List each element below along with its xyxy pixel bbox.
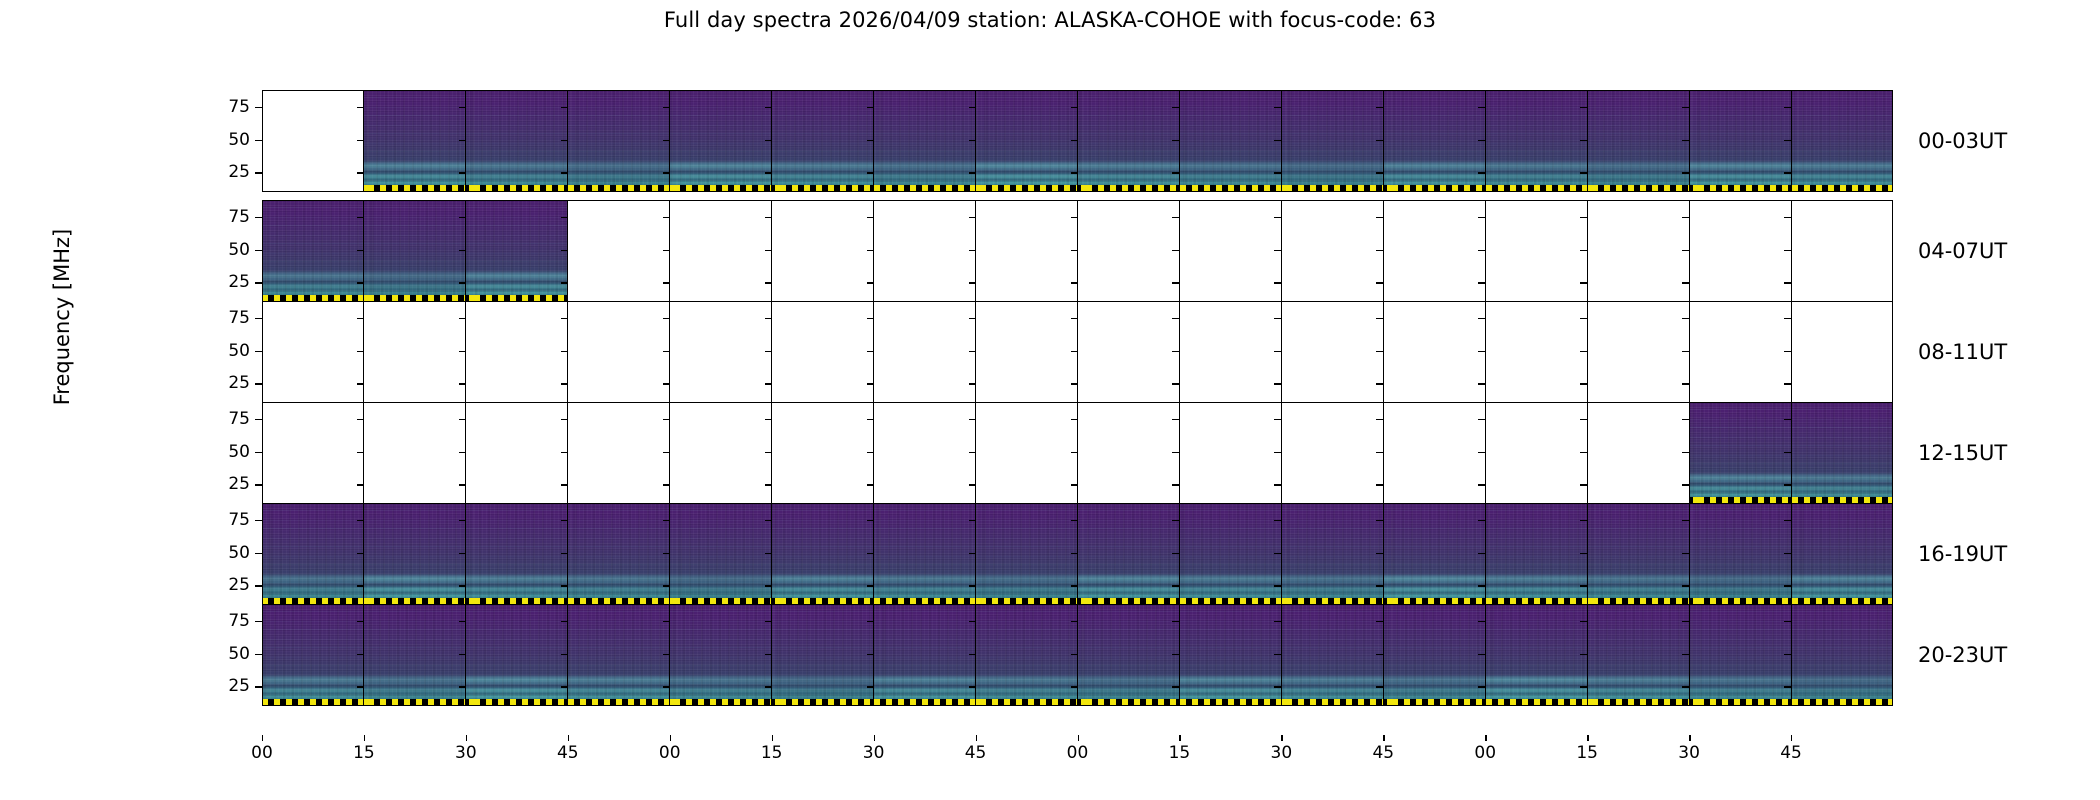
y-axis-tick — [1682, 686, 1689, 687]
y-axis-tick — [1274, 553, 1281, 554]
y-axis-tick — [969, 452, 976, 453]
y-axis-tick — [1580, 654, 1587, 655]
spectrogram-cell — [1791, 503, 1893, 605]
spectrogram-image — [262, 200, 363, 302]
spectrogram-cell — [1179, 503, 1281, 605]
y-axis-tick-label: 25 — [204, 474, 250, 494]
empty-cell — [771, 402, 873, 504]
y-axis-tick — [1478, 452, 1485, 453]
status-strip — [364, 185, 465, 192]
y-axis-tick — [1784, 107, 1791, 108]
noise-speckle — [1384, 503, 1485, 605]
empty-cell — [1281, 200, 1383, 302]
y-axis-tick — [561, 250, 568, 251]
noise-speckle — [976, 503, 1077, 605]
spectrogram-image — [874, 503, 975, 605]
y-axis-tick — [1274, 140, 1281, 141]
y-axis-tick — [1376, 383, 1383, 384]
y-axis-tick — [1274, 621, 1281, 622]
y-axis-tick — [1071, 452, 1078, 453]
status-strip — [1282, 598, 1383, 605]
empty-cell — [1383, 200, 1485, 302]
y-axis-tick — [1784, 172, 1791, 173]
y-axis-tick — [1071, 107, 1078, 108]
y-axis-tick — [357, 250, 364, 251]
y-axis-tick — [969, 351, 976, 352]
y-axis-tick — [255, 217, 262, 218]
y-axis-tick — [1784, 686, 1791, 687]
empty-cell — [873, 301, 975, 403]
status-strip — [976, 699, 1077, 706]
y-axis-tick — [255, 383, 262, 384]
spectrogram-cell — [1485, 604, 1587, 706]
y-axis-tick — [255, 452, 262, 453]
status-strip — [1486, 699, 1587, 706]
status-strip — [1792, 497, 1893, 504]
y-axis-tick — [1580, 140, 1587, 141]
y-axis-tick — [255, 250, 262, 251]
spectrogram-cell — [1689, 90, 1791, 192]
x-axis-tick-label: 30 — [1271, 743, 1293, 763]
y-axis-tick — [969, 140, 976, 141]
y-axis-tick — [561, 351, 568, 352]
y-axis-tick — [459, 484, 466, 485]
y-axis-tick — [1580, 282, 1587, 283]
spectrogram-cell — [975, 604, 1077, 706]
spectrogram-image — [568, 90, 669, 192]
noise-speckle — [1690, 402, 1791, 504]
empty-cell — [975, 402, 1077, 504]
spectrogram-cell — [1587, 604, 1689, 706]
empty-cell — [1383, 301, 1485, 403]
y-axis-tick — [1682, 621, 1689, 622]
spectrogram-image — [772, 604, 873, 706]
y-axis-tick — [969, 172, 976, 173]
noise-speckle — [1282, 503, 1383, 605]
y-axis-tick — [357, 351, 364, 352]
status-strip — [1384, 699, 1485, 706]
y-axis-tick — [1172, 282, 1179, 283]
y-axis-tick — [1682, 250, 1689, 251]
status-strip — [466, 598, 567, 605]
row-cells — [262, 301, 1893, 403]
y-axis-tick — [255, 282, 262, 283]
spectrogram-image — [1690, 604, 1791, 706]
y-axis-tick — [1071, 250, 1078, 251]
y-axis-tick — [1376, 217, 1383, 218]
noise-speckle — [1486, 503, 1587, 605]
y-axis-tick — [1682, 520, 1689, 521]
y-axis-tick — [969, 585, 976, 586]
spectrogram-image — [568, 503, 669, 605]
spectrogram-cell — [771, 604, 873, 706]
y-axis-tick — [1274, 520, 1281, 521]
y-axis-tick — [765, 140, 772, 141]
noise-speckle — [364, 604, 465, 706]
empty-cell — [669, 200, 771, 302]
y-axis-tick — [1172, 419, 1179, 420]
empty-cell — [771, 200, 873, 302]
y-axis-tick — [663, 484, 670, 485]
y-axis-tick — [1478, 654, 1485, 655]
spectrogram-image — [1690, 90, 1791, 192]
y-axis-tick — [867, 217, 874, 218]
noise-speckle — [466, 90, 567, 192]
spectrogram-image — [1792, 503, 1893, 605]
y-axis-tick — [1580, 107, 1587, 108]
x-axis-tick-label: 15 — [1169, 743, 1191, 763]
y-axis-tick — [969, 621, 976, 622]
empty-cell — [465, 402, 567, 504]
spectrogram-image — [1282, 604, 1383, 706]
y-axis-tick — [969, 686, 976, 687]
y-axis-tick — [1274, 351, 1281, 352]
y-axis-tick — [867, 585, 874, 586]
y-axis-tick — [765, 107, 772, 108]
y-axis-tick — [1478, 484, 1485, 485]
noise-speckle — [670, 503, 771, 605]
status-strip — [976, 185, 1077, 192]
y-axis-tick — [1274, 654, 1281, 655]
y-axis-tick — [1172, 484, 1179, 485]
y-axis-tick — [1580, 419, 1587, 420]
y-axis-tick — [765, 217, 772, 218]
y-axis-tick — [867, 484, 874, 485]
y-axis-tick — [1376, 351, 1383, 352]
x-axis-tick-label: 30 — [455, 743, 477, 763]
spectrogram-image — [1690, 402, 1791, 504]
spectrogram-cell — [1791, 604, 1893, 706]
y-axis-tick — [1376, 520, 1383, 521]
status-strip — [874, 185, 975, 192]
y-axis-tick — [357, 484, 364, 485]
y-axis-tick-label: 75 — [204, 97, 250, 117]
y-axis-tick-label: 50 — [204, 341, 250, 361]
noise-speckle — [1180, 604, 1281, 706]
y-axis-tick — [561, 452, 568, 453]
spectrogram-cell — [1077, 503, 1179, 605]
y-axis-tick — [867, 520, 874, 521]
noise-speckle — [1588, 503, 1689, 605]
y-axis-tick — [1172, 585, 1179, 586]
noise-speckle — [1486, 604, 1587, 706]
spectrogram-cell — [262, 200, 363, 302]
y-axis-tick — [663, 172, 670, 173]
empty-cell — [1689, 301, 1791, 403]
empty-cell — [1179, 301, 1281, 403]
y-axis-tick — [255, 520, 262, 521]
y-axis-tick — [663, 250, 670, 251]
noise-speckle — [1384, 604, 1485, 706]
y-axis-tick — [561, 140, 568, 141]
y-axis-tick — [1274, 419, 1281, 420]
spectrogram-image — [976, 604, 1077, 706]
y-axis-tick — [1172, 621, 1179, 622]
spectrogram-cell — [1791, 402, 1893, 504]
spectrogram-cell — [1587, 503, 1689, 605]
y-axis-tick — [765, 282, 772, 283]
noise-speckle — [772, 90, 873, 192]
x-axis-tick — [364, 735, 365, 741]
status-strip — [262, 699, 363, 706]
y-axis-tick — [867, 452, 874, 453]
spectrogram-image — [1384, 503, 1485, 605]
status-strip — [1180, 185, 1281, 192]
spectrogram-image — [1588, 604, 1689, 706]
y-axis-tick — [969, 383, 976, 384]
y-axis-tick — [1274, 172, 1281, 173]
y-axis-tick — [357, 553, 364, 554]
y-axis-tick — [1682, 553, 1689, 554]
spectrogram-image — [772, 90, 873, 192]
y-axis-tick — [663, 217, 670, 218]
y-axis-tick — [1376, 585, 1383, 586]
x-axis-tick-label: 00 — [1067, 743, 1089, 763]
y-axis-tick — [561, 282, 568, 283]
y-axis-tick — [765, 520, 772, 521]
noise-speckle — [1792, 402, 1893, 504]
empty-cell — [262, 90, 363, 192]
y-axis-tick — [969, 250, 976, 251]
y-axis-tick — [561, 621, 568, 622]
y-axis-tick — [1478, 250, 1485, 251]
y-axis-tick — [1784, 520, 1791, 521]
y-axis-tick — [1376, 172, 1383, 173]
spectrogram-cell — [262, 604, 363, 706]
row-time-label: 16-19UT — [1918, 542, 2007, 566]
y-axis-tick — [1376, 686, 1383, 687]
x-axis-tick — [874, 735, 875, 741]
spectrogram-figure: Full day spectra 2026/04/09 station: ALA… — [0, 0, 2100, 800]
empty-cell — [669, 402, 771, 504]
y-axis-tick — [765, 484, 772, 485]
y-axis-tick-label: 50 — [204, 442, 250, 462]
y-axis-tick — [357, 419, 364, 420]
y-axis-tick — [1580, 217, 1587, 218]
y-axis-tick — [1784, 250, 1791, 251]
spectrogram-row: 255075 — [262, 301, 1893, 403]
y-axis-tick — [1580, 383, 1587, 384]
empty-cell — [1791, 301, 1893, 403]
spectrogram-image — [1690, 503, 1791, 605]
x-axis-tick — [976, 735, 977, 741]
y-axis-tick-label: 75 — [204, 510, 250, 530]
y-axis-tick — [459, 318, 466, 319]
spectrogram-cell — [363, 503, 465, 605]
y-axis-tick — [1172, 686, 1179, 687]
y-axis-tick — [459, 140, 466, 141]
y-axis-tick — [867, 621, 874, 622]
y-axis-tick — [1478, 585, 1485, 586]
noise-speckle — [874, 503, 975, 605]
x-axis-tick — [1485, 735, 1486, 741]
y-axis-tick — [1274, 585, 1281, 586]
y-axis-tick — [1376, 553, 1383, 554]
y-axis-tick — [1682, 282, 1689, 283]
y-axis-tick — [255, 140, 262, 141]
empty-cell — [1689, 200, 1791, 302]
y-axis-tick — [1478, 107, 1485, 108]
y-axis-tick — [1376, 282, 1383, 283]
empty-cell — [1587, 301, 1689, 403]
status-strip — [466, 699, 567, 706]
y-axis-tick — [357, 452, 364, 453]
y-axis-tick — [255, 484, 262, 485]
empty-cell — [1587, 200, 1689, 302]
spectrogram-cell — [1383, 604, 1485, 706]
y-axis-tick — [1071, 484, 1078, 485]
y-axis-tick — [1682, 318, 1689, 319]
spectrogram-cell — [1689, 503, 1791, 605]
y-axis-tick — [663, 621, 670, 622]
y-axis-tick — [1376, 484, 1383, 485]
y-axis-tick — [1274, 452, 1281, 453]
y-axis-tick — [1784, 452, 1791, 453]
status-strip — [1078, 699, 1179, 706]
status-strip — [874, 598, 975, 605]
y-axis-tick — [867, 107, 874, 108]
y-axis-tick-label: 50 — [204, 240, 250, 260]
y-axis-tick — [765, 318, 772, 319]
spectrogram-image — [364, 200, 465, 302]
status-strip — [1180, 598, 1281, 605]
noise-speckle — [976, 604, 1077, 706]
spectrogram-cell — [567, 604, 669, 706]
y-axis-tick — [1274, 318, 1281, 319]
y-axis-tick — [1071, 351, 1078, 352]
y-axis-tick — [969, 484, 976, 485]
spectrogram-image — [1792, 604, 1893, 706]
y-axis-tick — [969, 318, 976, 319]
empty-cell — [1485, 200, 1587, 302]
empty-cell — [1179, 402, 1281, 504]
spectrogram-cell — [975, 90, 1077, 192]
status-strip — [1078, 185, 1179, 192]
empty-cell — [1281, 402, 1383, 504]
noise-speckle — [1078, 503, 1179, 605]
y-axis-tick — [459, 621, 466, 622]
spectrogram-image — [976, 90, 1077, 192]
y-axis-tick — [765, 452, 772, 453]
y-axis-tick — [255, 553, 262, 554]
spectrogram-image — [466, 90, 567, 192]
row-cells — [262, 200, 1893, 302]
empty-cell — [1485, 402, 1587, 504]
noise-speckle — [1690, 90, 1791, 192]
y-axis-tick — [1172, 452, 1179, 453]
spectrogram-cell — [873, 503, 975, 605]
y-axis-tick — [1172, 217, 1179, 218]
y-axis-tick — [459, 553, 466, 554]
y-axis-tick — [765, 621, 772, 622]
noise-speckle — [1588, 604, 1689, 706]
x-axis-tick-label: 15 — [761, 743, 783, 763]
y-axis-tick — [1071, 318, 1078, 319]
y-axis-tick — [1478, 383, 1485, 384]
x-axis-tick — [1383, 735, 1384, 741]
y-axis-tick — [357, 282, 364, 283]
y-axis-tick — [1478, 686, 1485, 687]
y-axis-tick — [1784, 318, 1791, 319]
x-axis-tick-label: 15 — [1576, 743, 1598, 763]
spectrogram-image — [364, 604, 465, 706]
y-axis-tick-label: 25 — [204, 575, 250, 595]
spectrogram-image — [1180, 604, 1281, 706]
y-axis-tick — [1071, 383, 1078, 384]
row-time-label: 04-07UT — [1918, 239, 2007, 263]
x-axis-tick — [772, 735, 773, 741]
spectrogram-cell — [1281, 604, 1383, 706]
y-axis-tick — [1071, 140, 1078, 141]
spectrogram-image — [262, 503, 363, 605]
y-axis-tick — [1071, 172, 1078, 173]
noise-speckle — [772, 503, 873, 605]
y-axis-tick — [1784, 351, 1791, 352]
y-axis-tick — [1172, 654, 1179, 655]
spectrogram-cell — [465, 503, 567, 605]
spectrogram-cell — [1485, 90, 1587, 192]
spectrogram-image — [772, 503, 873, 605]
status-strip — [364, 295, 465, 302]
y-axis-tick — [969, 217, 976, 218]
spectrogram-cell — [1281, 90, 1383, 192]
y-axis-tick — [1376, 419, 1383, 420]
spectrogram-image — [976, 503, 1077, 605]
y-axis-tick — [765, 686, 772, 687]
y-axis-tick — [1478, 140, 1485, 141]
y-axis-tick — [459, 250, 466, 251]
y-axis-tick — [561, 553, 568, 554]
y-axis-tick — [357, 654, 364, 655]
spectrogram-image — [364, 90, 465, 192]
status-strip — [772, 699, 873, 706]
y-axis-tick — [867, 172, 874, 173]
spectrogram-cell — [771, 90, 873, 192]
x-axis-tick — [670, 735, 671, 741]
spectrogram-row: 255075 — [262, 90, 1893, 192]
spectrogram-cell — [1179, 604, 1281, 706]
x-axis-tick-label: 45 — [1780, 743, 1802, 763]
y-axis-tick — [1071, 419, 1078, 420]
y-axis-tick — [663, 452, 670, 453]
y-axis-tick — [1172, 553, 1179, 554]
y-axis-tick — [1784, 217, 1791, 218]
row-cells — [262, 90, 1893, 192]
y-axis-tick — [1172, 250, 1179, 251]
spectrogram-cell — [1077, 90, 1179, 192]
y-axis-tick — [765, 250, 772, 251]
noise-speckle — [1486, 90, 1587, 192]
empty-cell — [975, 301, 1077, 403]
y-axis-tick — [459, 585, 466, 586]
y-axis-tick — [357, 383, 364, 384]
y-axis-tick — [1478, 217, 1485, 218]
y-axis-tick — [357, 172, 364, 173]
y-axis-tick — [1682, 484, 1689, 485]
spectrogram-cell — [1791, 90, 1893, 192]
status-strip — [1078, 598, 1179, 605]
noise-speckle — [466, 604, 567, 706]
empty-cell — [567, 301, 669, 403]
status-strip — [262, 295, 363, 302]
y-axis-tick — [459, 351, 466, 352]
y-axis-tick — [663, 553, 670, 554]
spectrogram-cell — [771, 503, 873, 605]
empty-cell — [1383, 402, 1485, 504]
spectrogram-image — [1282, 90, 1383, 192]
spectrogram-image — [1486, 604, 1587, 706]
y-axis-tick — [663, 383, 670, 384]
